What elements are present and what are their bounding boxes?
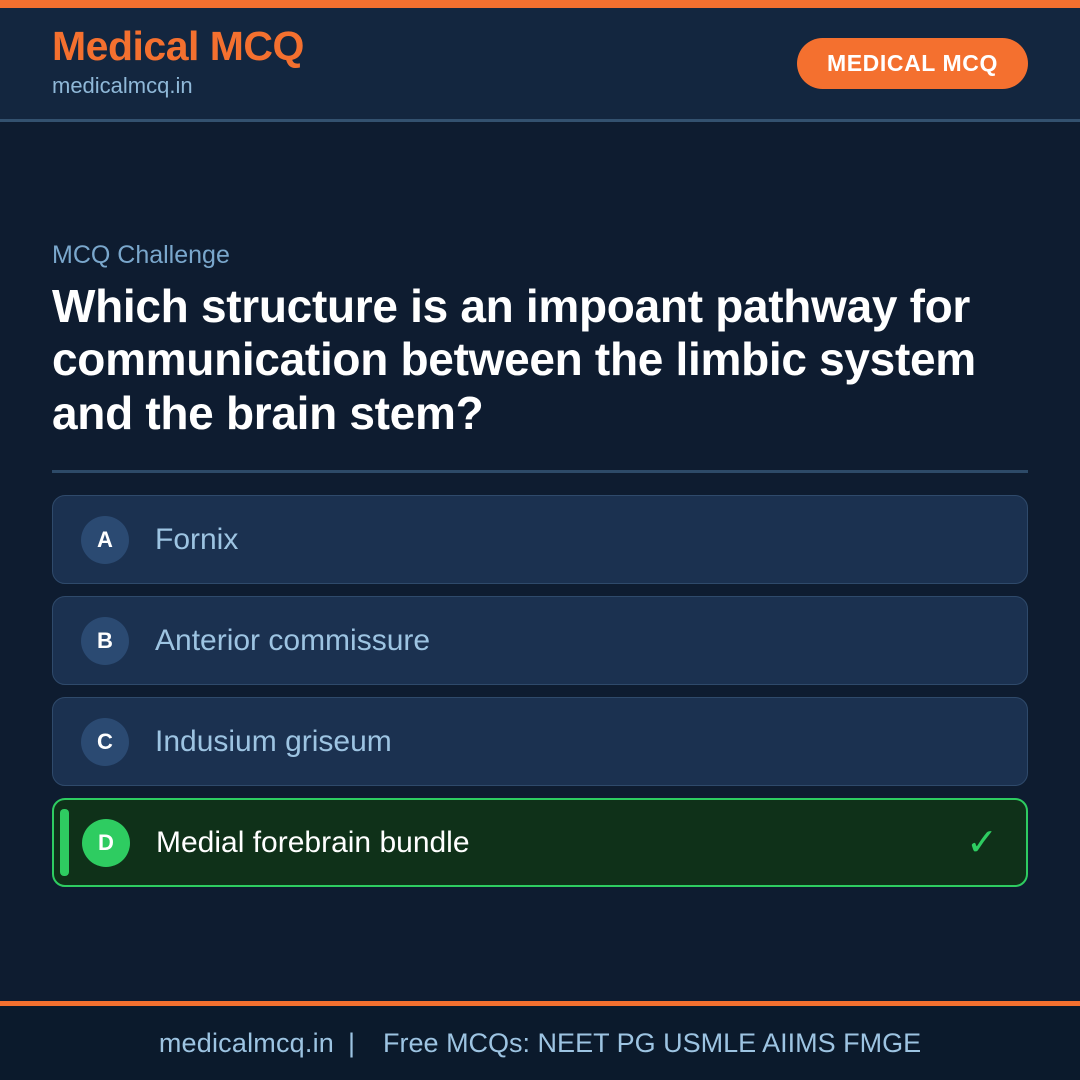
footer-separator: | [334, 1028, 369, 1059]
option-d-label: Medial forebrain bundle [156, 825, 470, 861]
footer-site: medicalmcq.in [159, 1028, 334, 1059]
check-icon: ✓ [966, 824, 998, 862]
question-divider [52, 470, 1028, 473]
header: Medical MCQ medicalmcq.in MEDICAL MCQ [0, 8, 1080, 122]
eyebrow-label: MCQ Challenge [52, 240, 1028, 270]
option-b-letter: B [81, 617, 129, 665]
option-d[interactable]: D Medial forebrain bundle ✓ [52, 798, 1028, 887]
footer-tagline: Free MCQs: NEET PG USMLE AIIMS FMGE [369, 1028, 921, 1059]
option-d-letter: D [82, 819, 130, 867]
header-badge[interactable]: MEDICAL MCQ [797, 38, 1028, 89]
option-c[interactable]: C Indusium griseum [52, 697, 1028, 786]
option-b[interactable]: B Anterior commissure [52, 596, 1028, 685]
brand-subtitle: medicalmcq.in [52, 70, 304, 102]
footer: medicalmcq.in | Free MCQs: NEET PG USMLE… [0, 1006, 1080, 1080]
option-c-letter: C [81, 718, 129, 766]
correct-accent-bar [60, 809, 69, 876]
option-c-label: Indusium griseum [155, 724, 392, 760]
option-a-label: Fornix [155, 522, 238, 558]
mcq-card: Medical MCQ medicalmcq.in MEDICAL MCQ MC… [0, 0, 1080, 1080]
option-b-label: Anterior commissure [155, 623, 430, 659]
content-bottom-spacer [52, 887, 1028, 1001]
brand-title: Medical MCQ [52, 25, 304, 68]
content-area: MCQ Challenge Which structure is an impo… [0, 122, 1080, 1001]
options-list: A Fornix B Anterior commissure C Indusiu… [52, 495, 1028, 887]
top-accent-bar [0, 0, 1080, 8]
option-a[interactable]: A Fornix [52, 495, 1028, 584]
content-top-spacer [52, 122, 1028, 240]
brand-block: Medical MCQ medicalmcq.in [52, 25, 304, 102]
option-a-letter: A [81, 516, 129, 564]
question-text: Which structure is an impoant pathway fo… [52, 280, 982, 440]
